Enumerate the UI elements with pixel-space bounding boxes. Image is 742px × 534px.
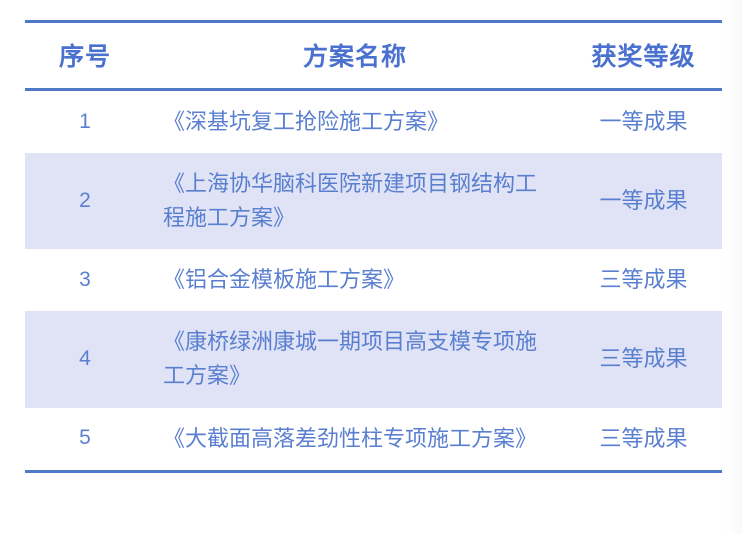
- cell-level: 一等成果: [565, 90, 722, 154]
- page-edge-shadow: [722, 0, 742, 534]
- table-header-row: 序号 方案名称 获奖等级: [25, 22, 722, 90]
- cell-level: 三等成果: [565, 249, 722, 311]
- table-row: 1 《深基坑复工抢险施工方案》 一等成果: [25, 90, 722, 154]
- cell-no: 2: [25, 153, 145, 249]
- cell-level: 三等成果: [565, 311, 722, 407]
- cell-name: 《上海协华脑科医院新建项目钢结构工程施工方案》: [145, 153, 565, 249]
- cell-name: 《铝合金模板施工方案》: [145, 249, 565, 311]
- column-header-name: 方案名称: [145, 22, 565, 90]
- cell-no: 5: [25, 408, 145, 472]
- table-header: 序号 方案名称 获奖等级: [25, 22, 722, 90]
- cell-no: 1: [25, 90, 145, 154]
- cell-level: 一等成果: [565, 153, 722, 249]
- cell-name: 《大截面高落差劲性柱专项施工方案》: [145, 408, 565, 472]
- table-body: 1 《深基坑复工抢险施工方案》 一等成果 2 《上海协华脑科医院新建项目钢结构工…: [25, 90, 722, 472]
- award-table: 序号 方案名称 获奖等级 1 《深基坑复工抢险施工方案》 一等成果 2 《上海协…: [25, 20, 722, 473]
- cell-level: 三等成果: [565, 408, 722, 472]
- table-row: 4 《康桥绿洲康城一期项目高支模专项施工方案》 三等成果: [25, 311, 722, 407]
- table-row: 3 《铝合金模板施工方案》 三等成果: [25, 249, 722, 311]
- cell-name: 《康桥绿洲康城一期项目高支模专项施工方案》: [145, 311, 565, 407]
- cell-no: 3: [25, 249, 145, 311]
- table-row: 5 《大截面高落差劲性柱专项施工方案》 三等成果: [25, 408, 722, 472]
- cell-name: 《深基坑复工抢险施工方案》: [145, 90, 565, 154]
- award-table-container: 序号 方案名称 获奖等级 1 《深基坑复工抢险施工方案》 一等成果 2 《上海协…: [25, 20, 722, 473]
- column-header-level: 获奖等级: [565, 22, 722, 90]
- column-header-no: 序号: [25, 22, 145, 90]
- cell-no: 4: [25, 311, 145, 407]
- table-row: 2 《上海协华脑科医院新建项目钢结构工程施工方案》 一等成果: [25, 153, 722, 249]
